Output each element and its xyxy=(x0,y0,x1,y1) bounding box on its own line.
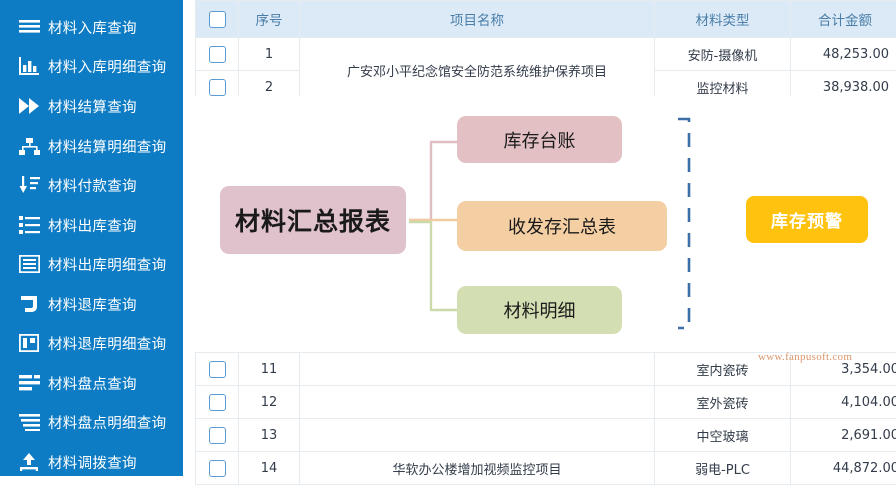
sidebar-item-material-stocktake-detail-query[interactable]: 材料盘点明细查询 xyxy=(0,405,183,439)
inventory-alert-label: 库存预警 xyxy=(771,207,843,232)
select-all-header xyxy=(196,1,239,38)
align-list-icon xyxy=(12,372,46,394)
cell-material-type: 弱电-PLC xyxy=(655,452,791,485)
diagram-node-receipt-issue-summary[interactable]: 收发存汇总表 xyxy=(457,201,667,251)
app-root: 材料入库查询 材料入库明细查询 材料结算查询 材料结算明细查询 材料付款查询 xyxy=(0,0,896,476)
cell-material-type: 室内瓷砖 xyxy=(655,353,791,386)
stacked-lines-icon xyxy=(12,411,46,433)
row-select-cell xyxy=(196,452,239,485)
cell-index: 13 xyxy=(239,419,300,452)
sidebar-item-material-stocktake-query[interactable]: 材料盘点查询 xyxy=(0,366,183,400)
bar-chart-icon xyxy=(12,55,46,77)
sidebar-item-material-payment-query[interactable]: 材料付款查询 xyxy=(0,168,183,202)
cell-total-amount: 3,354.00 xyxy=(791,353,896,386)
sidebar-item-label: 材料盘点明细查询 xyxy=(48,412,166,433)
sidebar-item-material-outbound-query[interactable]: 材料出库查询 xyxy=(0,208,183,242)
sidebar-item-material-outbound-detail-query[interactable]: 材料出库明细查询 xyxy=(0,247,183,281)
inventory-alert-button[interactable]: 库存预警 xyxy=(746,196,868,243)
cell-index: 1 xyxy=(239,38,300,71)
sidebar-item-label: 材料入库查询 xyxy=(48,17,137,38)
cell-total-amount: 2,691.00 xyxy=(791,419,896,452)
column-header-total-amount[interactable]: 合计金额 xyxy=(791,1,896,38)
sidebar-nav: 材料入库查询 材料入库明细查询 材料结算查询 材料结算明细查询 材料付款查询 xyxy=(0,0,183,476)
cell-index: 11 xyxy=(239,353,300,386)
table-header-row: 序号 项目名称 材料类型 合计金额 xyxy=(196,1,896,38)
sidebar-item-label: 材料调拨查询 xyxy=(48,452,137,473)
table-body-bottom: 11 室内瓷砖 3,354.00 12 室外瓷砖 4,104.00 xyxy=(196,353,896,485)
table-row[interactable]: 1 广安邓小平纪念馆安全防范系统维护保养项目 安防-摄像机 48,253.00 xyxy=(196,38,896,71)
cell-material-type: 安防-摄像机 xyxy=(655,38,791,71)
cell-project-name[interactable]: 华软办公楼增加视频监控项目 xyxy=(300,452,655,485)
sidebar-item-label: 材料付款查询 xyxy=(48,175,137,196)
select-all-checkbox[interactable] xyxy=(209,11,226,28)
diagram-node-material-detail[interactable]: 材料明细 xyxy=(457,286,622,334)
column-header-project-name[interactable]: 项目名称 xyxy=(300,1,655,38)
sidebar-item-label: 材料入库明细查询 xyxy=(48,56,166,77)
table-header: 序号 项目名称 材料类型 合计金额 xyxy=(196,1,896,38)
row-checkbox[interactable] xyxy=(209,427,226,444)
sitemap-icon xyxy=(12,135,46,157)
sidebar-item-material-transfer-query[interactable]: 材料调拨查询 xyxy=(0,445,183,479)
cell-project-name xyxy=(300,386,655,419)
table-body-top: 1 广安邓小平纪念馆安全防范系统维护保养项目 安防-摄像机 48,253.00 … xyxy=(196,38,896,104)
row-select-cell xyxy=(196,38,239,71)
diagram-node-label: 收发存汇总表 xyxy=(508,213,616,239)
row-checkbox[interactable] xyxy=(209,361,226,378)
diagram-node-label: 材料明细 xyxy=(504,297,576,323)
sidebar-item-label: 材料出库查询 xyxy=(48,215,137,236)
row-checkbox[interactable] xyxy=(209,46,226,63)
diagram-node-label: 材料汇总报表 xyxy=(235,202,391,238)
sidebar-item-label: 材料出库明细查询 xyxy=(48,254,166,275)
sort-descending-icon xyxy=(12,174,46,196)
cell-total-amount: 4,104.00 xyxy=(791,386,896,419)
sidebar-item-material-inbound-detail-query[interactable]: 材料入库明细查询 xyxy=(0,49,183,83)
diagram-node-label: 库存台账 xyxy=(504,127,576,153)
table-window-icon xyxy=(12,253,46,275)
diagram-node-inventory-ledger[interactable]: 库存台账 xyxy=(457,116,622,163)
sidebar-item-material-inbound-query[interactable]: 材料入库查询 xyxy=(0,10,183,44)
sidebar-item-material-return-detail-query[interactable]: 材料退库明细查询 xyxy=(0,326,183,360)
cell-total-amount: 48,253.00 xyxy=(791,38,896,71)
sidebar-item-label: 材料结算查询 xyxy=(48,96,137,117)
data-table-top: 序号 项目名称 材料类型 合计金额 1 广安邓小平纪念馆安全防范系统维护保养项目… xyxy=(195,0,896,104)
cell-index: 14 xyxy=(239,452,300,485)
cell-index: 12 xyxy=(239,386,300,419)
sidebar-item-label: 材料退库查询 xyxy=(48,294,137,315)
cell-project-name xyxy=(300,353,655,386)
cell-material-type: 室外瓷砖 xyxy=(655,386,791,419)
diagram-node-root[interactable]: 材料汇总报表 xyxy=(220,186,406,254)
column-header-index[interactable]: 序号 xyxy=(239,1,300,38)
task-list-icon xyxy=(12,214,46,236)
sidebar-item-label: 材料退库明细查询 xyxy=(48,333,166,354)
sidebar-item-material-settlement-detail-query[interactable]: 材料结算明细查询 xyxy=(0,129,183,163)
table-row[interactable]: 11 室内瓷砖 3,354.00 xyxy=(196,353,896,386)
sidebar-item-material-return-query[interactable]: 材料退库查询 xyxy=(0,287,183,321)
sidebar-item-label: 材料结算明细查询 xyxy=(48,136,166,157)
upload-icon xyxy=(12,451,46,473)
row-select-cell xyxy=(196,386,239,419)
cell-total-amount: 44,872.00 xyxy=(791,452,896,485)
cell-project-name-merged[interactable]: 广安邓小平纪念馆安全防范系统维护保养项目 xyxy=(300,38,655,104)
cell-project-name xyxy=(300,419,655,452)
row-checkbox[interactable] xyxy=(209,394,226,411)
cell-material-type: 中空玻璃 xyxy=(655,419,791,452)
list-lines-icon xyxy=(12,16,46,38)
row-checkbox[interactable] xyxy=(209,79,226,96)
data-table-bottom: 11 室内瓷砖 3,354.00 12 室外瓷砖 4,104.00 xyxy=(195,352,896,485)
sidebar-content-gap xyxy=(183,0,195,476)
row-select-cell xyxy=(196,353,239,386)
row-checkbox[interactable] xyxy=(209,460,226,477)
fast-forward-icon xyxy=(12,95,46,117)
return-arrow-icon xyxy=(12,293,46,315)
table-row[interactable]: 13 中空玻璃 2,691.00 xyxy=(196,419,896,452)
table-row[interactable]: 12 室外瓷砖 4,104.00 xyxy=(196,386,896,419)
column-header-material-type[interactable]: 材料类型 xyxy=(655,1,791,38)
row-select-cell xyxy=(196,419,239,452)
sidebar-item-label: 材料盘点查询 xyxy=(48,373,137,394)
material-summary-diagram: 材料汇总报表 库存台账 收发存汇总表 材料明细 库存预警 xyxy=(195,96,896,352)
table-row[interactable]: 14 华软办公楼增加视频监控项目 弱电-PLC 44,872.00 xyxy=(196,452,896,485)
sidebar-item-material-settlement-query[interactable]: 材料结算查询 xyxy=(0,89,183,123)
columns-layout-icon xyxy=(12,332,46,354)
